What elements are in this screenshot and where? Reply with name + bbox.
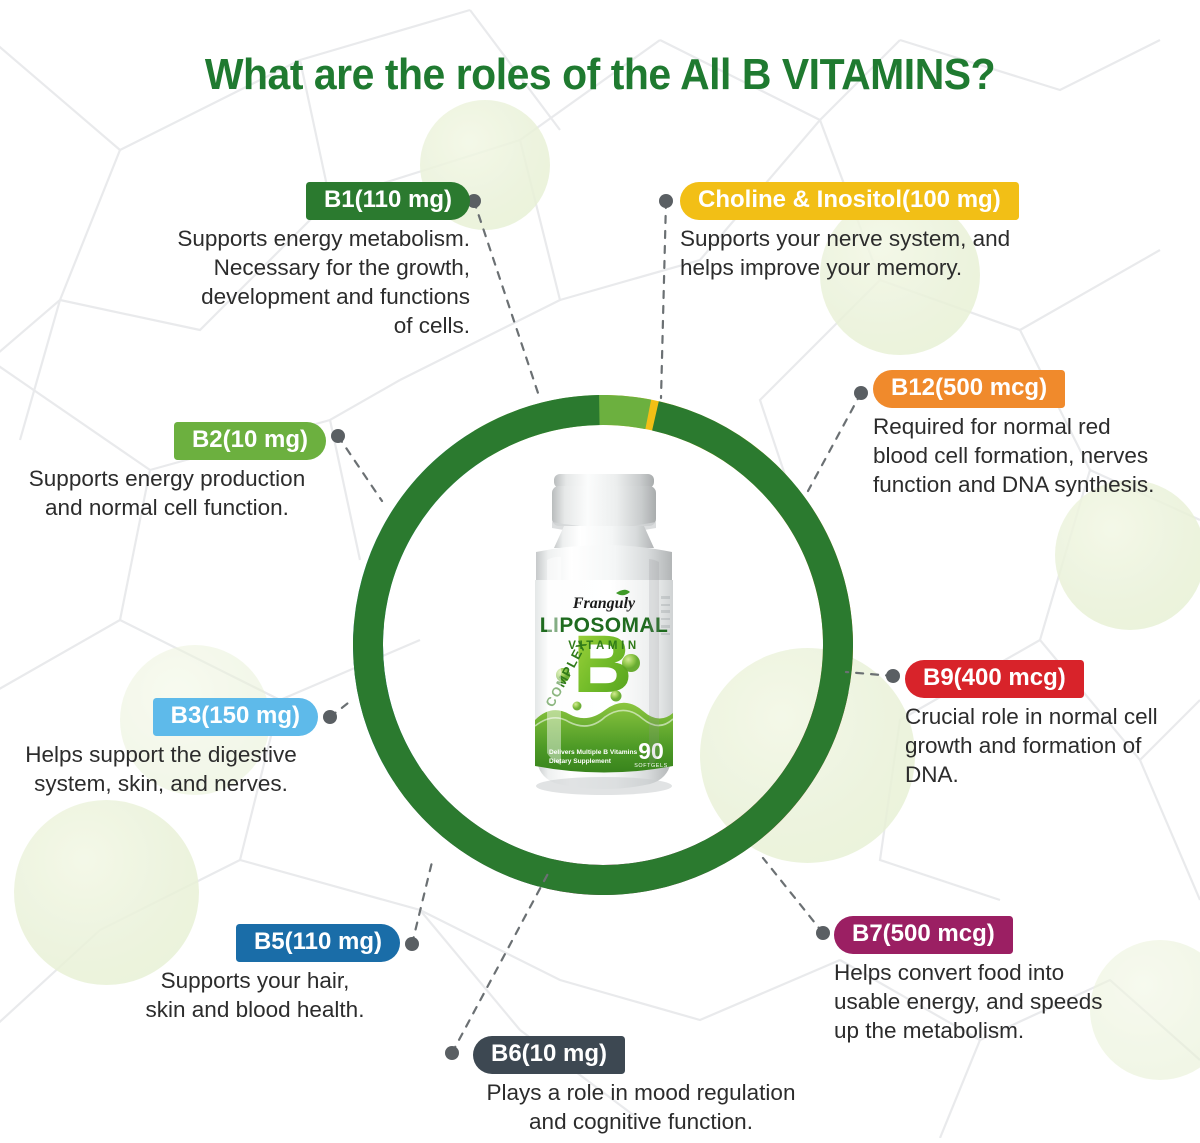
callout-b7: B7(500 mcg) Helps convert food into usab… <box>834 916 1164 1045</box>
callout-b2-desc: Supports energy production and normal ce… <box>8 464 326 522</box>
callout-b3-label[interactable]: B3(150 mg) <box>153 698 318 736</box>
callout-b1: B1(110 mg) Supports energy metabolism. N… <box>120 182 470 340</box>
callout-b5-desc: Supports your hair, skin and blood healt… <box>110 966 400 1024</box>
callout-b9-pill-row: B9(400 mcg) <box>905 660 1200 698</box>
callout-b2-label[interactable]: B2(10 mg) <box>174 422 326 460</box>
callout-b6-pill-row: B6(10 mg) <box>455 1036 827 1074</box>
svg-text:VITAMIN: VITAMIN <box>568 640 640 652</box>
connector-dot-b12 <box>854 386 868 400</box>
connector-dot-b3 <box>323 710 337 724</box>
connector-dot-b5 <box>405 937 419 951</box>
callout-choline-pill-row: Choline & Inositol(100 mg) <box>680 182 1080 220</box>
connector-dot-b9 <box>886 669 900 683</box>
callout-b5: B5(110 mg) Supports your hair, skin and … <box>110 924 400 1024</box>
callout-choline-label[interactable]: Choline & Inositol(100 mg) <box>680 182 1019 220</box>
callout-b7-pill-row: B7(500 mcg) <box>834 916 1164 954</box>
svg-text:Franguly: Franguly <box>572 595 636 612</box>
callout-b2-pill-row: B2(10 mg) <box>8 422 326 460</box>
connector-dot-choline <box>659 194 673 208</box>
callout-b6-desc: Plays a role in mood regulation and cogn… <box>455 1078 827 1136</box>
callout-b9-desc: Crucial role in normal cell growth and f… <box>905 702 1200 789</box>
callout-b12-pill-row: B12(500 mcg) <box>873 370 1200 408</box>
connector-line-b3 <box>330 700 352 717</box>
callout-b6: B6(10 mg) Plays a role in mood regulatio… <box>455 1036 827 1136</box>
callout-b3-desc: Helps support the digestive system, skin… <box>4 740 318 798</box>
decor-blob-3 <box>1055 480 1200 630</box>
callout-b7-desc: Helps convert food into usable energy, a… <box>834 958 1164 1045</box>
callout-b7-label[interactable]: B7(500 mcg) <box>834 916 1013 954</box>
svg-text:Delivers Multiple B Vitamins: Delivers Multiple B Vitamins <box>549 749 638 756</box>
callout-b12-desc: Required for normal red blood cell forma… <box>873 412 1200 499</box>
callout-b9-label[interactable]: B9(400 mcg) <box>905 660 1084 698</box>
callout-b5-pill-row: B5(110 mg) <box>110 924 400 962</box>
infographic-root: What are the roles of the All B VITAMINS… <box>0 0 1200 1138</box>
connector-line-b1 <box>474 201 540 399</box>
callout-b5-label[interactable]: B5(110 mg) <box>236 924 400 962</box>
callout-b1-pill-row: B1(110 mg) <box>120 182 470 220</box>
callout-b1-desc: Supports energy metabolism. Necessary fo… <box>120 224 470 340</box>
connector-line-choline <box>661 201 666 398</box>
connector-line-b6 <box>452 868 551 1053</box>
callout-b6-label[interactable]: B6(10 mg) <box>473 1036 625 1074</box>
product-bottle-image: B COMPLEX Franguly LIPOSOMAL VITAMIN Del… <box>519 468 689 806</box>
connector-dot-b7 <box>816 926 830 940</box>
page-title: What are the roles of the All B VITAMINS… <box>42 50 1158 100</box>
callout-b12-label[interactable]: B12(500 mcg) <box>873 370 1065 408</box>
callout-b9: B9(400 mcg) Crucial role in normal cell … <box>905 660 1200 789</box>
callout-b3-pill-row: B3(150 mg) <box>4 698 318 736</box>
callout-b3: B3(150 mg) Helps support the digestive s… <box>4 698 318 798</box>
callout-b1-label[interactable]: B1(110 mg) <box>306 182 470 220</box>
callout-choline: Choline & Inositol(100 mg) Supports your… <box>680 182 1080 282</box>
callout-b2: B2(10 mg) Supports energy production and… <box>8 422 326 522</box>
connector-dot-b2 <box>331 429 345 443</box>
connector-line-b9 <box>846 672 893 676</box>
callout-choline-desc: Supports your nerve system, and helps im… <box>680 224 1080 282</box>
callout-b12: B12(500 mcg) Required for normal red blo… <box>873 370 1200 499</box>
